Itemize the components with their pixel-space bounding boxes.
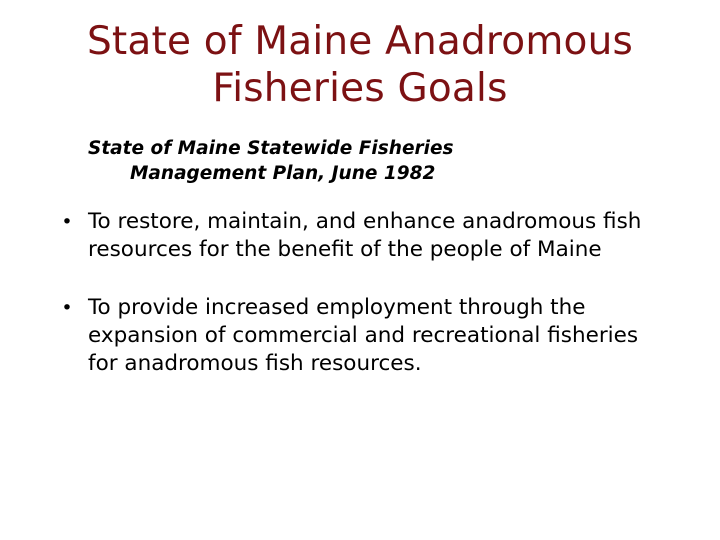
list-item: • To provide increased employment throug…: [56, 294, 656, 378]
title-line-2: Fisheries Goals: [0, 65, 720, 112]
presentation-slide: State of Maine Anadromous Fisheries Goal…: [0, 0, 720, 540]
list-item: • To restore, maintain, and enhance anad…: [56, 208, 656, 264]
bullet-dot-icon: •: [60, 208, 74, 236]
subtitle-line-1: State of Maine Statewide Fisheries: [88, 136, 648, 161]
subtitle-line-2: Management Plan, June 1982: [88, 161, 648, 186]
bullet-text: To restore, maintain, and enhance anadro…: [88, 208, 656, 264]
bullet-text: To provide increased employment through …: [88, 294, 656, 378]
bullet-dot-icon: •: [60, 294, 74, 322]
bullet-list: • To restore, maintain, and enhance anad…: [56, 208, 656, 378]
slide-subtitle: State of Maine Statewide Fisheries Manag…: [88, 136, 648, 186]
title-line-1: State of Maine Anadromous: [0, 18, 720, 65]
page-title: State of Maine Anadromous Fisheries Goal…: [0, 18, 720, 112]
